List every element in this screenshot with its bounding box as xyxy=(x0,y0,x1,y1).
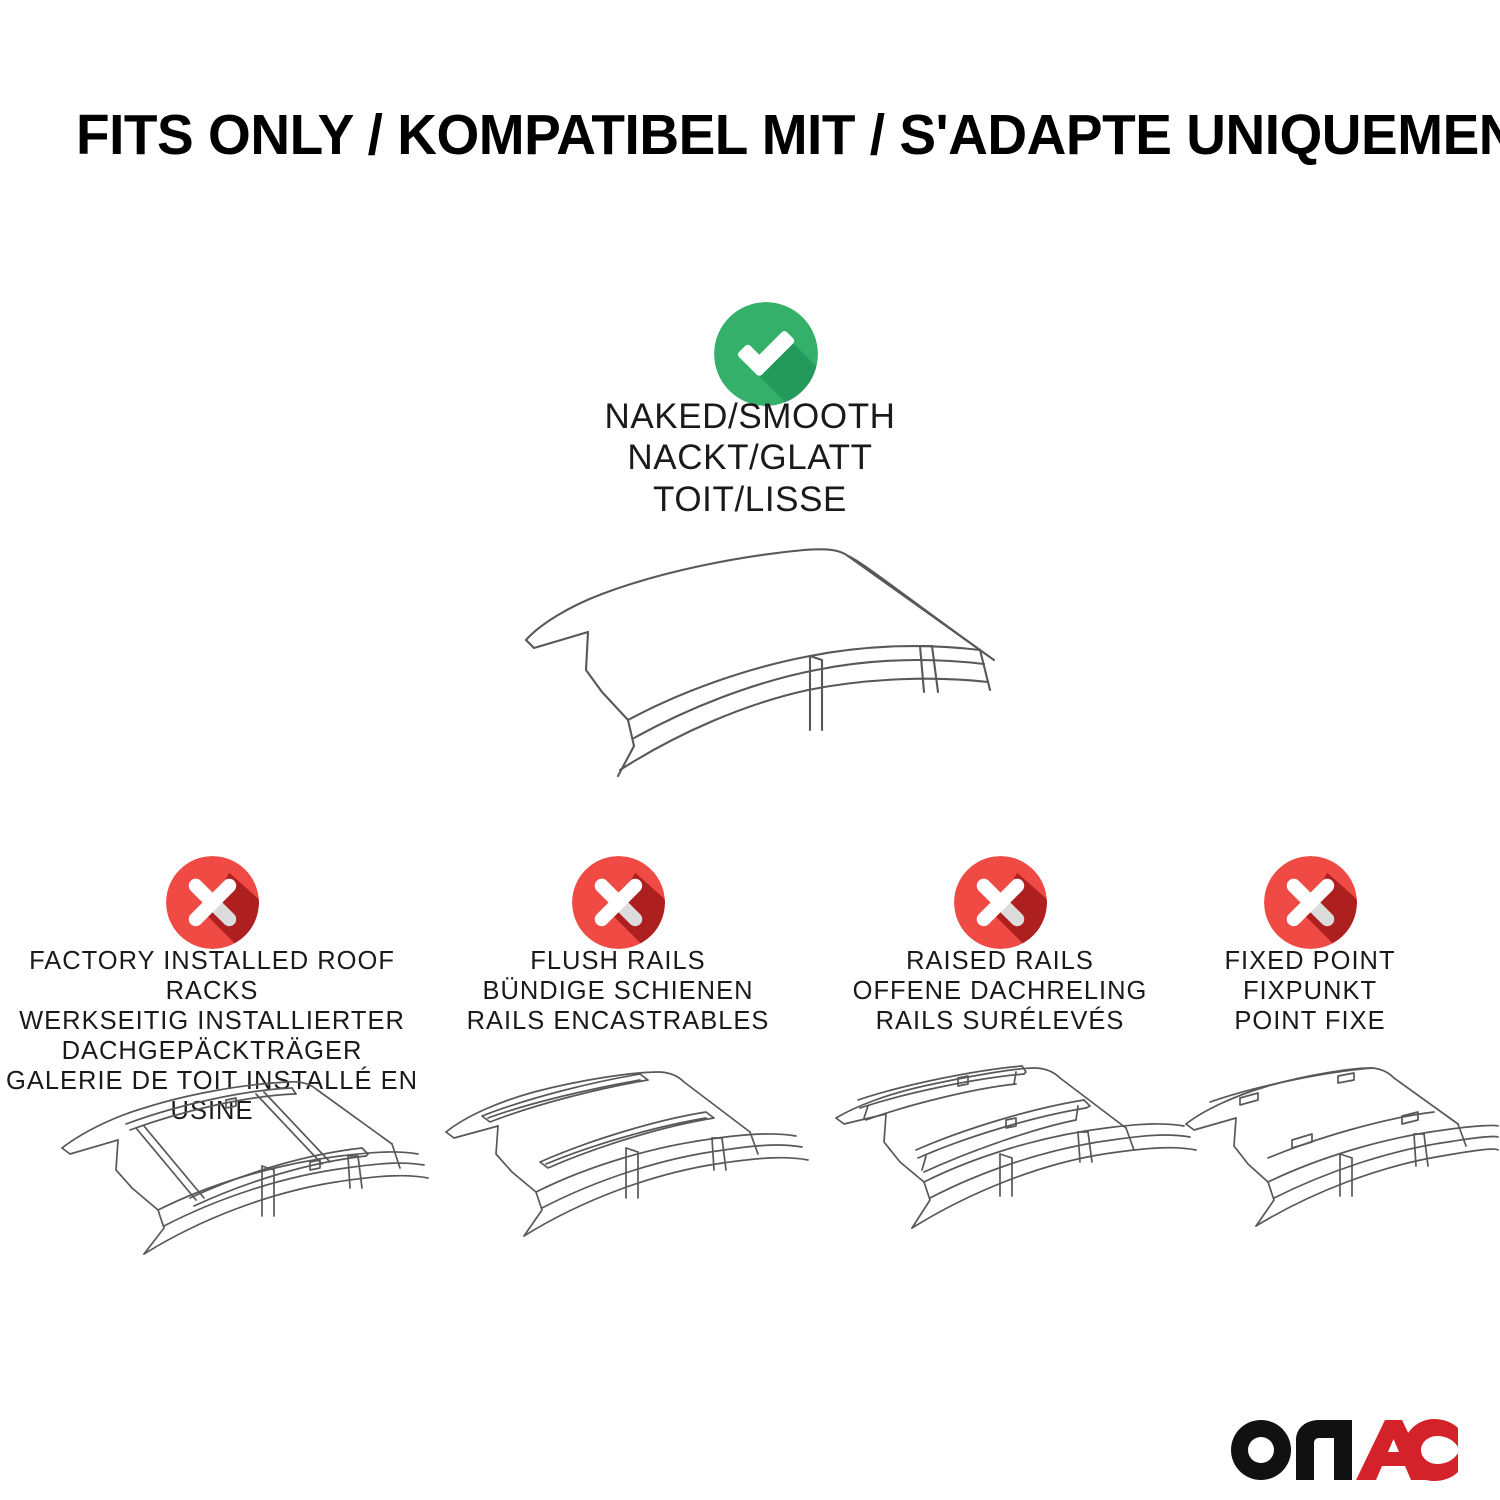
x-circle-icon xyxy=(572,856,665,949)
caption-line-fr: TOIT/LISSE xyxy=(520,479,980,520)
caption-line-en: FIXED POINT xyxy=(1150,946,1470,976)
caption-line-en: RAISED RAILS xyxy=(800,946,1200,976)
caption-line-de: FIXPUNKT xyxy=(1150,976,1470,1006)
car-roof-flush-rails-illustration xyxy=(440,1058,840,1278)
logo-letter-m xyxy=(1296,1420,1352,1480)
fitment-guide-page: FITS ONLY / KOMPATIBEL MIT / S'ADAPTE UN… xyxy=(0,0,1500,1500)
check-circle-icon xyxy=(714,302,818,406)
car-roof-fixed-point-illustration xyxy=(1180,1058,1500,1278)
car-roof-raised-rails-illustration xyxy=(830,1058,1230,1278)
caption-line-en: NAKED/SMOOTH xyxy=(520,396,980,437)
caption-line-fr: RAILS ENCASTRABLES xyxy=(418,1006,818,1036)
logo-letter-o xyxy=(1231,1420,1291,1480)
omac-logo xyxy=(1222,1408,1460,1486)
caption-line-de: OFFENE DACHRELING xyxy=(800,976,1200,1006)
page-title: FITS ONLY / KOMPATIBEL MIT / S'ADAPTE UN… xyxy=(76,106,1388,166)
car-roof-naked-smooth-illustration xyxy=(510,520,1000,790)
caption-line-en: FLUSH RAILS xyxy=(418,946,818,976)
incompatible-caption: FIXED POINT FIXPUNKT POINT FIXE xyxy=(1150,946,1470,1036)
x-circle-icon xyxy=(1264,856,1357,949)
compatible-caption: NAKED/SMOOTH NACKT/GLATT TOIT/LISSE xyxy=(520,396,980,520)
incompatible-caption: RAISED RAILS OFFENE DACHRELING RAILS SUR… xyxy=(800,946,1200,1036)
caption-line-de: BÜNDIGE SCHIENEN xyxy=(418,976,818,1006)
x-circle-icon xyxy=(954,856,1047,949)
car-roof-factory-racks-illustration xyxy=(40,1058,460,1278)
x-circle-icon xyxy=(166,856,259,949)
caption-line-fr: POINT FIXE xyxy=(1150,1006,1470,1036)
caption-line-de: NACKT/GLATT xyxy=(520,437,980,478)
caption-line-fr: RAILS SURÉLEVÉS xyxy=(800,1006,1200,1036)
incompatible-caption: FLUSH RAILS BÜNDIGE SCHIENEN RAILS ENCAS… xyxy=(418,946,818,1036)
caption-line-en: FACTORY INSTALLED ROOF RACKS xyxy=(2,946,422,1006)
